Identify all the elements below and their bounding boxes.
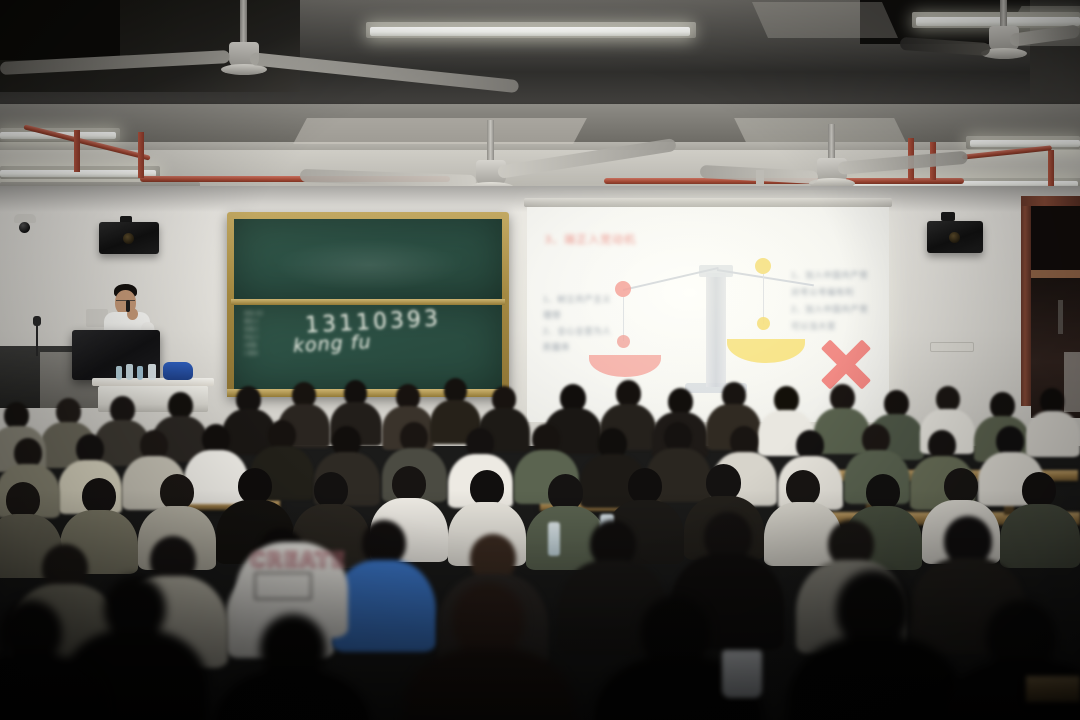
fan-rod-2 (487, 120, 494, 164)
ceiling-wedge-left (293, 118, 587, 144)
wall-speaker-right (927, 221, 983, 253)
scale-post (706, 273, 726, 387)
water-bottle-3[interactable] (137, 366, 143, 380)
ceiling-wedge-top (752, 2, 898, 38)
slide-left-text: 1、树立共产主义 理想 2、全心全意为人 民服务 (543, 291, 611, 355)
scale-beam-left (623, 267, 719, 291)
create-shirt-text: CREATE (250, 548, 347, 572)
mic-head (33, 316, 41, 326)
foreground-cup[interactable] (722, 650, 762, 698)
tube-light-2 (916, 17, 1080, 26)
slide-right-line-1: 1、加入中国共产党 (791, 267, 868, 284)
water-bottle-4[interactable] (148, 364, 156, 380)
blackboard-sheen (274, 239, 464, 291)
fan-rod-1 (240, 0, 247, 44)
door-frame-left (1021, 196, 1031, 406)
mic-stand (36, 322, 38, 356)
blackboard-upper-panel (234, 219, 502, 299)
desk-edge-foreground (1026, 676, 1080, 702)
water-bottle-1[interactable] (116, 366, 122, 380)
speaker-cone-icon (123, 233, 134, 244)
fan-rod-3 (828, 124, 835, 162)
water-bottle-2[interactable] (126, 364, 133, 380)
slide-right-text: 1、加入中国共产党 对考公考编有利 2、加入中国共产党 可以当大官 (791, 267, 868, 335)
ceiling-wedge-right (734, 118, 906, 142)
slide-left-line-2: 理想 (543, 307, 611, 323)
wall-speaker-left (99, 222, 159, 254)
door-side-panel (1064, 352, 1080, 412)
pipe-drop-2 (138, 132, 144, 178)
slide-right-line-4: 可以当大官 (791, 318, 868, 335)
chalk-side-notes: 目标 4分理论 2实践 2作业 21考勤2 期末 (244, 310, 263, 358)
security-camera-icon (19, 222, 30, 233)
chalk-word: kong fu (292, 331, 372, 357)
scale-pan-left (589, 355, 661, 377)
create-shirt-graphic-box (254, 572, 312, 600)
tube-light-6 (970, 140, 1080, 147)
scale-right-knob (755, 258, 771, 274)
door-transom (1031, 206, 1080, 272)
slide-left-line-3: 2、全心全意为人 (543, 323, 611, 339)
door-frame-top (1021, 196, 1080, 206)
slide-right-line-3: 2、加入中国共产党 (791, 301, 868, 318)
presenter-microphone (126, 300, 130, 312)
door-rail (1031, 270, 1080, 278)
pipe-drop-1 (74, 130, 80, 172)
scale-pan-right (727, 339, 805, 363)
speaker-cone-icon-right (949, 232, 960, 243)
slide-title: 3、端正入党动机 (545, 231, 636, 247)
slide-left-line-1: 1、树立共产主义 (543, 291, 611, 307)
screen-case (524, 198, 892, 207)
blue-bag[interactable] (163, 362, 193, 380)
scale-left-weight (617, 335, 630, 348)
desk-water-bottle-2[interactable] (548, 522, 560, 556)
slide-left-line-4: 民服务 (543, 339, 611, 355)
lecture-hall-photo: EPSON 13110393 kong fu 目标 4分理论 2实践 2作业 2… (0, 0, 1080, 720)
scale-left-knob (615, 281, 631, 297)
door-handle[interactable] (1058, 300, 1063, 334)
right-speaker-bracket (941, 212, 955, 221)
scale-right-weight (757, 317, 770, 330)
wall-socket[interactable] (930, 342, 974, 352)
slide-right-line-2: 对考公考编有利 (791, 284, 868, 301)
ceiling-dark-corner (0, 0, 120, 60)
